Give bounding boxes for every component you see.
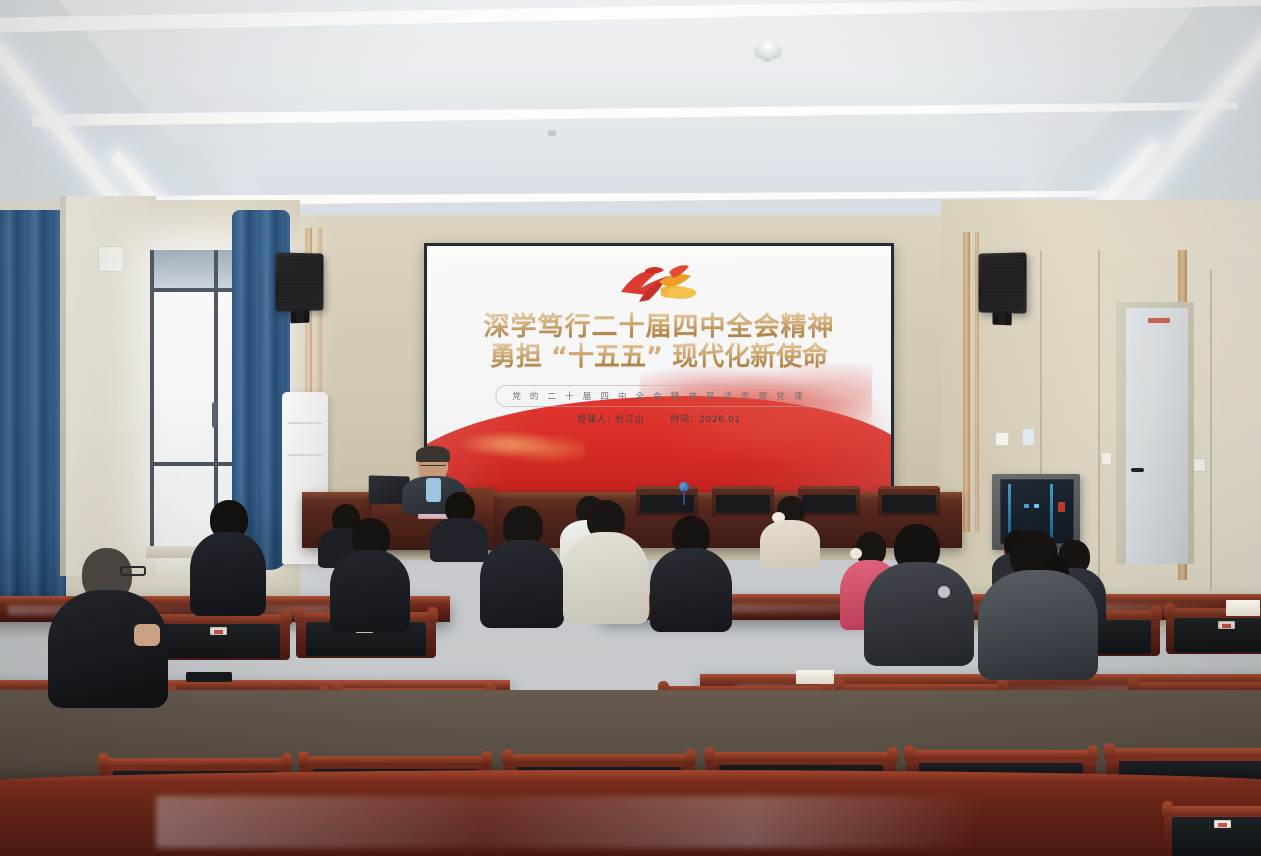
attendee-left-dark-coat xyxy=(190,500,266,610)
exit-sign-icon xyxy=(1148,318,1170,323)
glasses-icon xyxy=(120,566,146,576)
wall-control-panel[interactable] xyxy=(1022,428,1035,446)
stage-chair[interactable] xyxy=(878,486,940,516)
desk-microphone-icon xyxy=(679,482,689,504)
attendee-row2-mid xyxy=(650,516,732,626)
attendee-grey-hoodie xyxy=(864,524,974,660)
smoke-detector-icon xyxy=(755,42,781,57)
wall-speaker-left xyxy=(275,252,323,311)
window-handle[interactable] xyxy=(212,402,217,428)
rack-led-icon xyxy=(1024,504,1029,508)
foreground-bench-desk xyxy=(0,770,1261,856)
slide-gold-texture xyxy=(455,422,585,466)
speaker-grille xyxy=(981,255,1023,310)
presenter-hair xyxy=(416,446,450,462)
notebook xyxy=(1226,600,1260,616)
glasses-icon xyxy=(420,461,446,466)
red-gold-ribbon-bird-emblem-icon xyxy=(611,262,707,312)
slide-subtitle: 党 的 二 十 届 四 中 全 会 精 神 导 读 专 题 党 课 xyxy=(495,385,822,407)
exit-door[interactable] xyxy=(1126,308,1188,564)
seat-number-label xyxy=(1214,820,1231,828)
speaker-mount xyxy=(290,309,309,324)
jacket-logo-icon xyxy=(938,586,950,598)
speaker-grille xyxy=(278,255,320,308)
seat-number-label xyxy=(210,627,227,635)
bench-seatback[interactable] xyxy=(1164,806,1261,856)
door-handle[interactable] xyxy=(1131,468,1144,472)
slide-meta: 授课人：杜江山时间：2026.01 xyxy=(577,412,740,425)
conference-room-photo: 深学笃行二十届四中全会精神 勇担 “十五五” 现代化新使命 党 的 二 十 届 … xyxy=(0,0,1261,856)
smartphone[interactable] xyxy=(186,672,232,682)
bench-seatback[interactable] xyxy=(150,614,290,660)
light-switch[interactable] xyxy=(995,432,1009,446)
slide-red-texture xyxy=(640,364,872,450)
date-label: 时间： xyxy=(670,415,699,425)
slide-title: 深学笃行二十届四中全会精神 勇担 “十五五” 现代化新使命 xyxy=(427,312,891,372)
wall-panel-seam xyxy=(1210,270,1212,590)
attendee-hand xyxy=(134,624,160,646)
attendee-front-left-glasses xyxy=(48,548,168,698)
attendee-grey-coat-ponytail xyxy=(978,530,1098,672)
hair-tie-icon xyxy=(850,548,862,559)
slide-title-line-2: 勇担 “十五五” 现代化新使命 xyxy=(427,342,891,372)
light-switch[interactable] xyxy=(1101,452,1112,465)
presenter-label: 授课人： xyxy=(577,415,615,425)
rack-power-indicator xyxy=(1058,502,1065,512)
window-frame-edge xyxy=(150,250,154,550)
projection-screen: 深学笃行二十届四中全会精神 勇担 “十五五” 现代化新使命 党 的 二 十 届 … xyxy=(424,243,894,513)
attendee-center-dark xyxy=(330,518,410,626)
wall-plate xyxy=(98,246,124,272)
attendee-light-top xyxy=(563,500,649,618)
wall-trim-strip xyxy=(963,232,970,532)
wall-panel-seam xyxy=(1098,250,1100,580)
speaker-mount xyxy=(992,311,1011,326)
notebook xyxy=(796,670,834,684)
wall-column xyxy=(66,196,156,576)
sprinkler-icon xyxy=(548,130,556,136)
projection-screen-surface: 深学笃行二十届四中全会精神 勇担 “十五五” 现代化新使命 党 的 二 十 届 … xyxy=(427,246,891,510)
rack-led-icon xyxy=(1034,504,1039,508)
date-value: 2026.01 xyxy=(699,415,740,425)
wall-speaker-right xyxy=(978,252,1026,313)
slide-title-line-1: 深学笃行二十届四中全会精神 xyxy=(427,312,891,342)
presenter-name: 杜江山 xyxy=(616,415,645,425)
attendee-beige-puffer xyxy=(760,496,820,566)
light-switch[interactable] xyxy=(1192,458,1206,472)
attendee-center-right xyxy=(480,506,564,622)
seat-number-label xyxy=(1218,621,1235,629)
